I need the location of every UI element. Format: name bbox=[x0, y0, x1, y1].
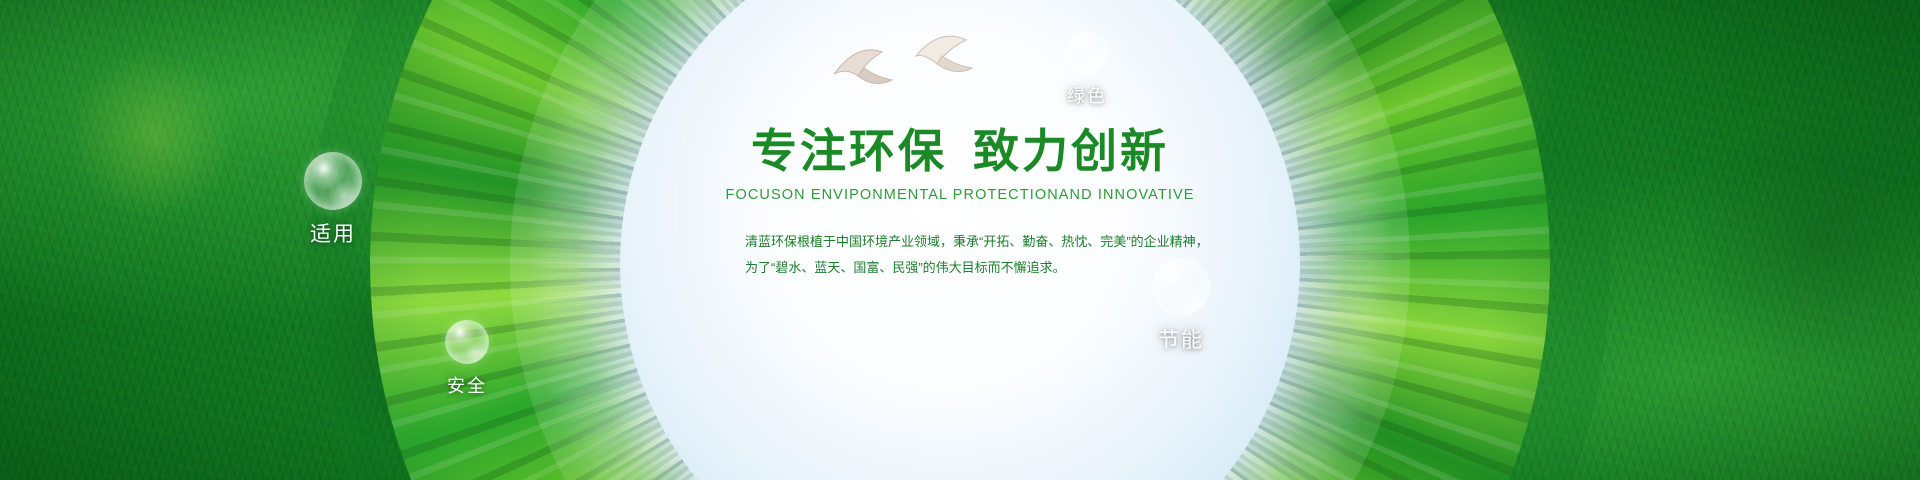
birds-icon bbox=[820, 30, 1000, 110]
keyword-label-anquan: 安全 bbox=[392, 372, 542, 398]
bubble-icon bbox=[1065, 30, 1109, 74]
bubble-icon bbox=[304, 152, 362, 210]
intro-paragraph-line-1: 清蓝环保根植于中国环境产业领域，秉承“开拓、勤奋、热忱、完美”的企业精神， bbox=[745, 229, 1175, 255]
keyword-badge-anquan: 安全 bbox=[392, 320, 542, 398]
keyword-label-lvse: 绿色 bbox=[1012, 82, 1162, 108]
bubble-icon bbox=[1152, 258, 1210, 316]
eco-hero-banner: 专注环保致力创新 FOCUSON ENVIPONMENTAL PROTECTIO… bbox=[0, 0, 1920, 480]
title-part-2: 致力创新 bbox=[973, 125, 1169, 177]
keyword-label-jieneng: 节能 bbox=[1106, 324, 1256, 354]
bubble-icon bbox=[445, 320, 489, 364]
title-part-1: 专注环保 bbox=[751, 125, 947, 177]
keyword-badge-lvse: 绿色 bbox=[1012, 30, 1162, 108]
keyword-badge-jieneng: 节能 bbox=[1106, 258, 1256, 354]
keyword-badge-shiyong: 适用 bbox=[258, 152, 408, 248]
keyword-label-shiyong: 适用 bbox=[258, 218, 408, 248]
